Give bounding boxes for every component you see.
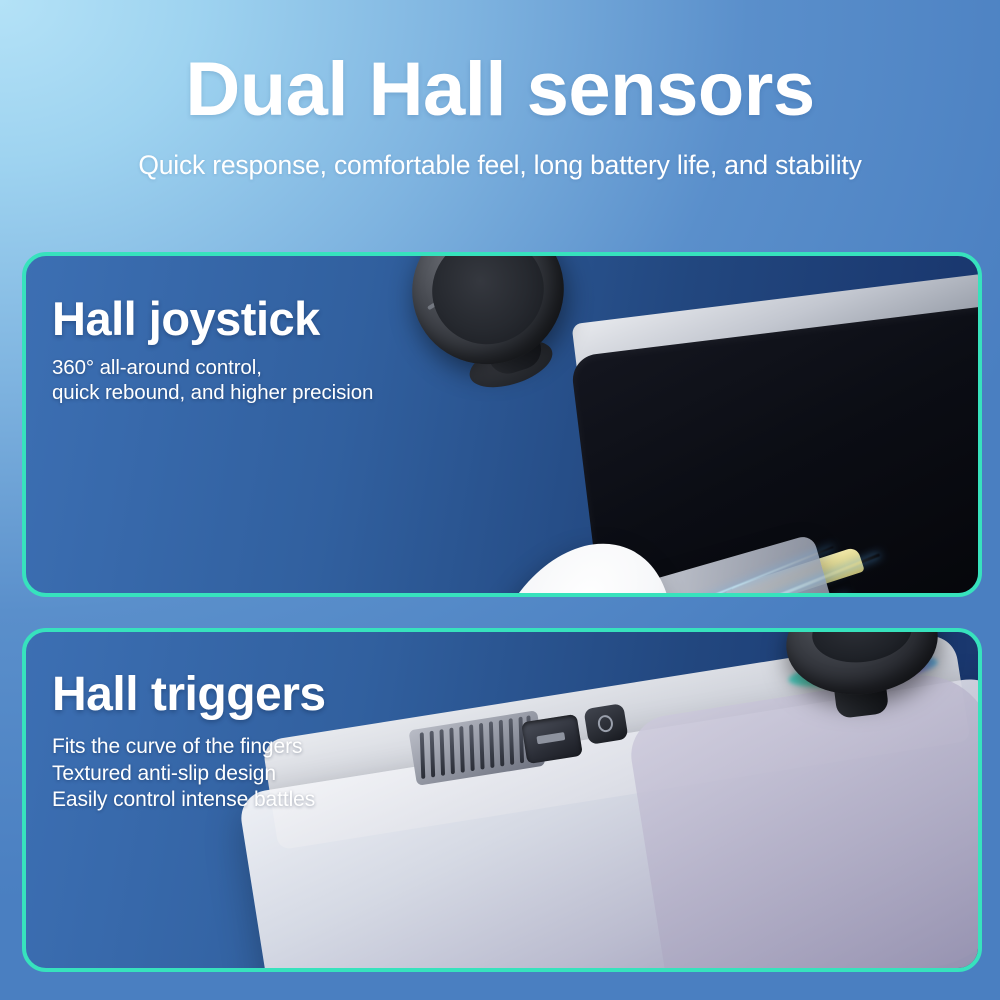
feature-panel-hall-joystick: Hall joystick 360° all-around control, q… xyxy=(22,252,982,597)
joystick-disc-hole xyxy=(513,594,581,597)
page-title: Dual Hall sensors xyxy=(0,0,1000,128)
panel-title: Hall triggers xyxy=(52,670,326,720)
panel-title: Hall joystick xyxy=(52,294,373,343)
panel-body-line: Fits the curve of the fingers xyxy=(52,734,326,760)
right-joystick xyxy=(772,628,972,770)
feature-panel-hall-triggers: LB LT Hall triggers Fits the curve of th… xyxy=(22,628,982,972)
hall-triggers-text-block: Hall triggers Fits the curve of the fing… xyxy=(52,670,326,814)
panel-body: Fits the curve of the fingers Textured a… xyxy=(52,720,326,813)
usb-port-icon xyxy=(521,714,583,764)
panel-body-line: Easily control intense battles xyxy=(52,787,326,813)
page-header: Dual Hall sensors Quick response, comfor… xyxy=(0,0,1000,200)
panel-body-line: Textured anti-slip design xyxy=(52,761,326,787)
joystick-cap xyxy=(398,252,638,446)
panel-body-line: quick rebound, and higher precision xyxy=(52,380,373,405)
page-subtitle: Quick response, comfortable feel, long b… xyxy=(0,128,1000,181)
hall-joystick-text-block: Hall joystick 360° all-around control, q… xyxy=(52,294,373,405)
panel-body-line: 360° all-around control, xyxy=(52,355,373,380)
panel-body: 360° all-around control, quick rebound, … xyxy=(52,343,373,405)
headphone-jack-icon xyxy=(583,703,628,745)
